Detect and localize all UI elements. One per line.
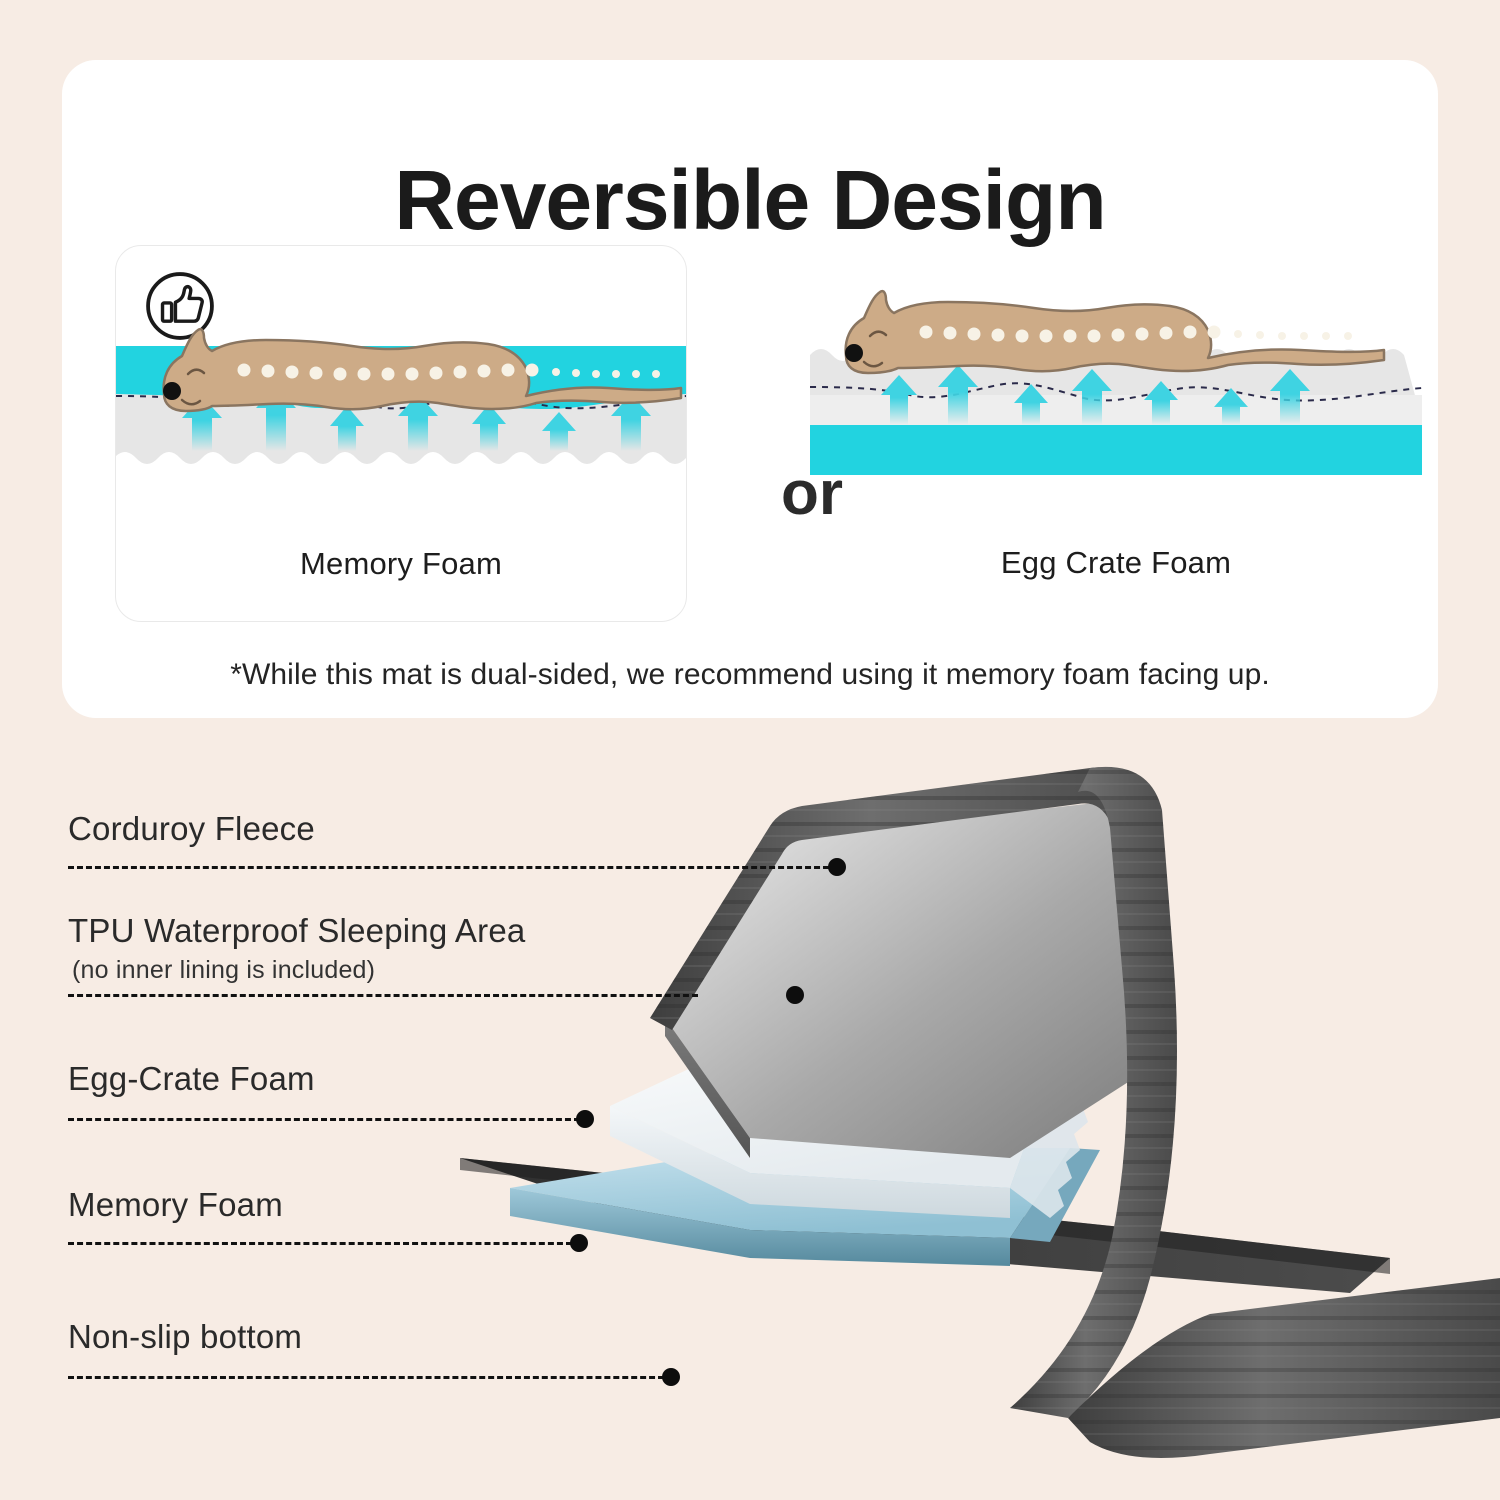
leader-dot-memory-foam (570, 1234, 588, 1252)
leader-line-memory-foam (68, 1242, 572, 1245)
egg-crate-foam-illustration (810, 245, 1422, 545)
leader-line-non-slip-bottom (68, 1376, 664, 1379)
leader-dot-corduroy-fleece (828, 858, 846, 876)
footnote-text: *While this mat is dual-sided, we recomm… (62, 658, 1438, 692)
leader-dot-tpu-waterproof (786, 986, 804, 1004)
layer-label-tpu-waterproof: TPU Waterproof Sleeping Area (68, 912, 525, 950)
leader-dot-non-slip-bottom (662, 1368, 680, 1386)
panel-memory-foam: Memory Foam (115, 245, 687, 622)
infographic-page: Reversible Design (0, 0, 1500, 1500)
panel-caption-memory-foam: Memory Foam (116, 546, 686, 582)
leader-line-egg-crate-foam (68, 1118, 580, 1121)
layer-label-corduroy-fleece: Corduroy Fleece (68, 810, 315, 848)
layer-breakdown-section: Corduroy Fleece TPU Waterproof Sleeping … (0, 718, 1500, 1500)
layer-label-memory-foam: Memory Foam (68, 1186, 283, 1224)
layer-label-egg-crate-foam: Egg-Crate Foam (68, 1060, 315, 1098)
panel-caption-egg-crate-foam: Egg Crate Foam (810, 545, 1422, 581)
leader-line-corduroy-fleece (68, 866, 838, 869)
layer-tpu-sleeping-area (665, 798, 1150, 1158)
reversible-design-card: Reversible Design (62, 60, 1438, 718)
layer-sublabel-tpu-waterproof: (no inner lining is included) (72, 956, 375, 985)
memory-foam-illustration (116, 246, 686, 546)
layer-label-non-slip-bottom: Non-slip bottom (68, 1318, 302, 1356)
leader-line-tpu-waterproof (68, 994, 698, 997)
panel-egg-crate-foam: Egg Crate Foam (810, 245, 1422, 620)
dog-illustration (845, 291, 1384, 373)
page-title: Reversible Design (62, 152, 1438, 249)
leader-dot-egg-crate-foam (576, 1110, 594, 1128)
product-exploded-render (450, 718, 1500, 1500)
